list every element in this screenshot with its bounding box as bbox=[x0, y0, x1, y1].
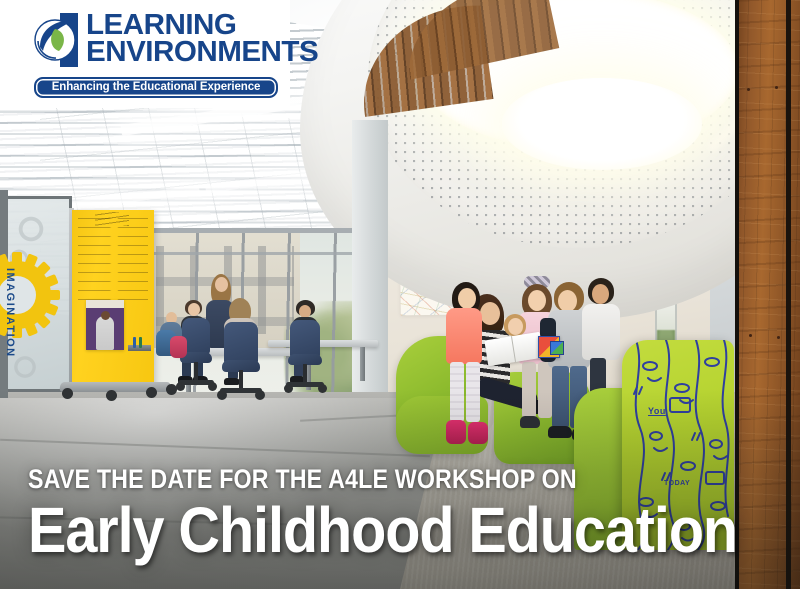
caster-wheel bbox=[255, 390, 265, 400]
backpack bbox=[170, 336, 187, 358]
poster-figure bbox=[96, 316, 114, 350]
caster-wheel bbox=[146, 387, 157, 398]
caster-wheel bbox=[62, 388, 73, 399]
wood-knot bbox=[775, 86, 778, 89]
window-transom bbox=[150, 252, 370, 255]
caster-wheel bbox=[176, 382, 185, 391]
logo-tagline: Enhancing the Educational Experience bbox=[34, 77, 278, 98]
leg bbox=[450, 362, 464, 422]
head bbox=[508, 318, 523, 335]
learning-environments-leaf-logo-icon bbox=[34, 11, 80, 73]
brand-logo-panel[interactable]: LEARNING ENVIRONMENTS Enhancing the Educ… bbox=[0, 0, 290, 108]
whiteboard-handwriting bbox=[78, 218, 148, 300]
doodle-word-today: TODAY bbox=[664, 480, 690, 487]
toy-block bbox=[550, 341, 564, 355]
logo-line-environments: ENVIRONMENTS bbox=[86, 39, 318, 66]
book-spine bbox=[511, 336, 516, 362]
head bbox=[528, 290, 546, 311]
boot bbox=[468, 422, 488, 444]
window-head-rail bbox=[150, 228, 370, 233]
doodle-word-you: You bbox=[648, 406, 666, 416]
logo-line-learning: LEARNING bbox=[86, 12, 318, 39]
leg bbox=[466, 362, 480, 422]
leg bbox=[522, 362, 536, 418]
save-the-date-banner: IMAGINATION bbox=[0, 0, 800, 589]
head bbox=[558, 290, 577, 312]
head bbox=[458, 288, 476, 309]
chair-post bbox=[194, 362, 198, 382]
wood-knot bbox=[777, 336, 780, 339]
wood-knot bbox=[747, 88, 750, 91]
logo-inner: LEARNING ENVIRONMENTS Enhancing the Educ… bbox=[0, 5, 290, 104]
head bbox=[592, 284, 609, 304]
leg bbox=[552, 366, 569, 428]
chair-post bbox=[303, 364, 307, 384]
marker bbox=[133, 337, 136, 348]
chair-post bbox=[239, 370, 243, 390]
wood-panel-seam bbox=[735, 0, 739, 589]
wood-panel-seam bbox=[786, 0, 791, 589]
head bbox=[215, 277, 228, 292]
torso bbox=[582, 304, 620, 360]
logo-row: LEARNING ENVIRONMENTS bbox=[34, 11, 278, 73]
torso bbox=[446, 308, 482, 364]
mobile-chair-back bbox=[290, 320, 320, 358]
boot bbox=[446, 420, 466, 444]
shoe bbox=[224, 378, 240, 385]
student-table bbox=[268, 340, 378, 347]
wood-knot bbox=[749, 334, 752, 337]
head bbox=[480, 302, 500, 325]
caster-wheel bbox=[318, 384, 327, 393]
shoe bbox=[520, 416, 540, 428]
caster-wheel bbox=[217, 390, 227, 400]
head bbox=[188, 303, 200, 316]
leg bbox=[538, 362, 552, 418]
caster-wheel bbox=[284, 384, 293, 393]
logo-wordmark: LEARNING ENVIRONMENTS bbox=[86, 11, 314, 67]
table-leg bbox=[360, 347, 365, 381]
marker bbox=[139, 337, 142, 348]
caster-wheel bbox=[106, 390, 117, 401]
green-doodle-panel: You TODAY bbox=[622, 340, 734, 550]
caster-wheel bbox=[208, 382, 217, 391]
frosted-gear-graphic bbox=[14, 212, 48, 246]
poster-figure-head bbox=[101, 311, 110, 320]
mobile-chair-back bbox=[224, 322, 258, 364]
imagination-label: IMAGINATION bbox=[4, 268, 16, 358]
shoe bbox=[548, 426, 572, 438]
